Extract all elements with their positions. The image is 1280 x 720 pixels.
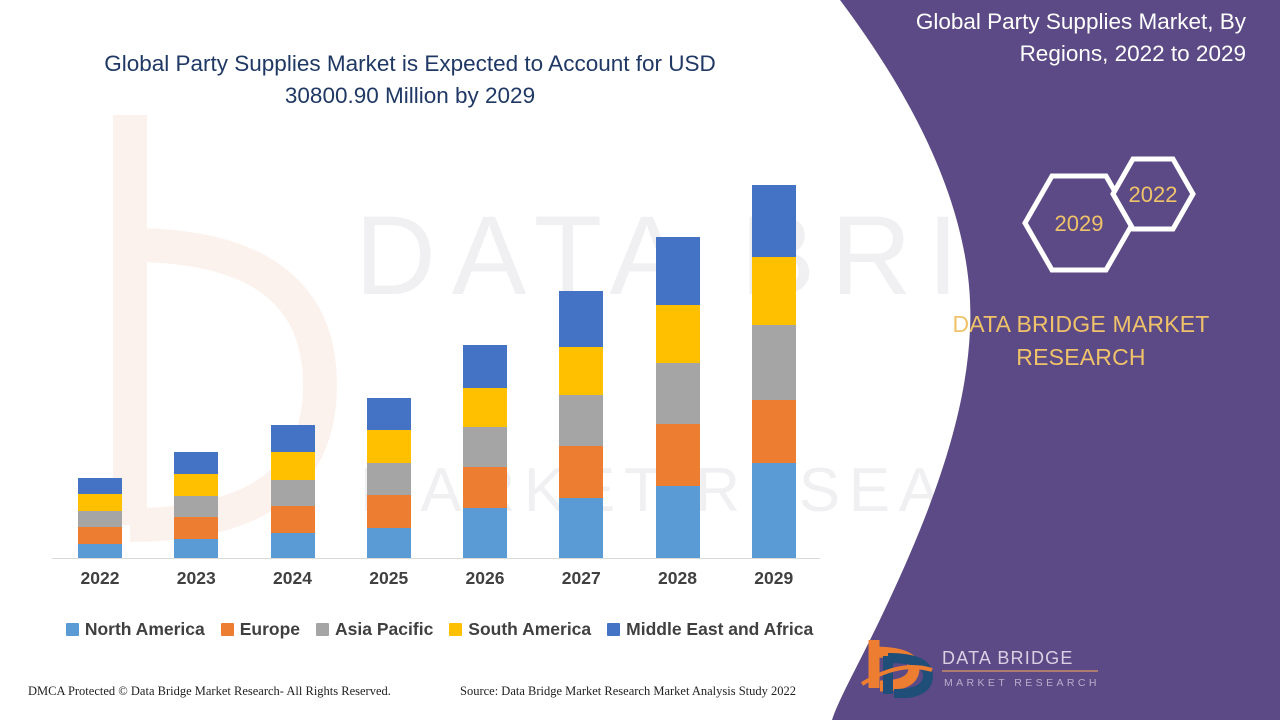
bar-segment: [367, 463, 411, 495]
bar-segment: [656, 237, 700, 305]
bar-segment: [752, 325, 796, 400]
bar-segment: [78, 544, 122, 558]
legend-label: Middle East and Africa: [626, 619, 813, 640]
legend-item[interactable]: Middle East and Africa: [607, 619, 813, 640]
bar-segment: [174, 539, 218, 558]
stacked-bar: [78, 478, 122, 558]
bar-segment: [559, 291, 603, 347]
bar-group: [437, 150, 533, 558]
x-axis-line: [52, 558, 820, 559]
bar-segment: [559, 395, 603, 446]
bar-segment: [656, 305, 700, 363]
bar-segment: [367, 495, 411, 528]
bar-segment: [174, 474, 218, 496]
bar-segment: [78, 478, 122, 494]
bar-segment: [463, 427, 507, 467]
bar-segment: [174, 517, 218, 539]
bar-segment: [271, 452, 315, 480]
hexagon-badges: 2029 2022: [1008, 150, 1208, 290]
chart-legend: North AmericaEuropeAsia PacificSouth Ame…: [52, 615, 827, 643]
brand-panel: Global Party Supplies Market, By Regions…: [810, 0, 1280, 720]
bar-segment: [271, 506, 315, 533]
bar-segment: [78, 527, 122, 544]
bar-segment: [367, 398, 411, 430]
legend-swatch-icon: [221, 623, 234, 636]
infographic-root: DATA BRIDGE MARKET RESEARCH Global Party…: [0, 0, 1280, 720]
bar-group: [533, 150, 629, 558]
legend-swatch-icon: [316, 623, 329, 636]
bar-group: [726, 150, 822, 558]
footer-copyright: DMCA Protected © Data Bridge Market Rese…: [28, 684, 391, 699]
x-axis-label: 2023: [148, 568, 244, 589]
bar-segment: [656, 424, 700, 486]
stacked-bar: [367, 398, 411, 558]
bar-group: [148, 150, 244, 558]
x-axis-label: 2029: [726, 568, 822, 589]
x-axis-labels: 20222023202420252026202720282029: [52, 568, 822, 598]
bar-segment: [463, 467, 507, 508]
x-axis-label: 2026: [437, 568, 533, 589]
chart-title: Global Party Supplies Market is Expected…: [60, 48, 760, 113]
legend-item[interactable]: Europe: [221, 619, 300, 640]
hexagon-2022-label: 2022: [1129, 182, 1178, 207]
bar-segment: [367, 528, 411, 558]
bar-segment: [271, 425, 315, 452]
bar-segment: [271, 480, 315, 506]
panel-title: Global Party Supplies Market, By Regions…: [846, 6, 1246, 70]
bar-segment: [559, 498, 603, 558]
bar-segment: [78, 494, 122, 511]
legend-item[interactable]: Asia Pacific: [316, 619, 433, 640]
legend-swatch-icon: [66, 623, 79, 636]
stacked-bar-chart: [52, 150, 822, 558]
legend-item[interactable]: North America: [66, 619, 205, 640]
bar-group: [341, 150, 437, 558]
x-axis-label: 2028: [630, 568, 726, 589]
logo-primary-text: DATA BRIDGE: [942, 648, 1074, 668]
bar-group: [245, 150, 341, 558]
bar-segment: [271, 533, 315, 558]
bar-segment: [752, 400, 796, 463]
legend-label: North America: [85, 619, 205, 640]
bar-group: [52, 150, 148, 558]
legend-label: Europe: [240, 619, 300, 640]
bar-segment: [656, 486, 700, 558]
x-axis-label: 2025: [341, 568, 437, 589]
legend-label: Asia Pacific: [335, 619, 433, 640]
stacked-bar: [271, 425, 315, 558]
bar-segment: [559, 446, 603, 498]
x-axis-label: 2027: [533, 568, 629, 589]
bar-segment: [656, 363, 700, 424]
bar-segment: [174, 496, 218, 517]
hexagon-2029-label: 2029: [1055, 211, 1104, 236]
legend-swatch-icon: [449, 623, 462, 636]
bar-segment: [78, 511, 122, 527]
bar-group: [630, 150, 726, 558]
bar-segment: [463, 388, 507, 427]
bar-segment: [752, 463, 796, 558]
data-bridge-logo-icon: DATA BRIDGE MARKET RESEARCH: [858, 636, 1108, 698]
legend-swatch-icon: [607, 623, 620, 636]
footer-source: Source: Data Bridge Market Research Mark…: [460, 684, 796, 699]
stacked-bar: [174, 452, 218, 558]
stacked-bar: [463, 345, 507, 558]
bar-segment: [367, 430, 411, 463]
bar-segment: [463, 508, 507, 558]
hexagons-icon: 2029 2022: [1008, 150, 1208, 295]
bar-segment: [752, 185, 796, 257]
x-axis-label: 2022: [52, 568, 148, 589]
bar-segment: [463, 345, 507, 388]
stacked-bar: [656, 237, 700, 558]
stacked-bar: [559, 291, 603, 558]
brand-name: DATA BRIDGE MARKET RESEARCH: [916, 308, 1246, 373]
legend-item[interactable]: South America: [449, 619, 591, 640]
x-axis-label: 2024: [245, 568, 341, 589]
bar-segment: [752, 257, 796, 325]
logo-secondary-text: MARKET RESEARCH: [944, 677, 1100, 689]
bar-segment: [174, 452, 218, 474]
legend-label: South America: [468, 619, 591, 640]
stacked-bar: [752, 185, 796, 558]
bar-segment: [559, 347, 603, 395]
